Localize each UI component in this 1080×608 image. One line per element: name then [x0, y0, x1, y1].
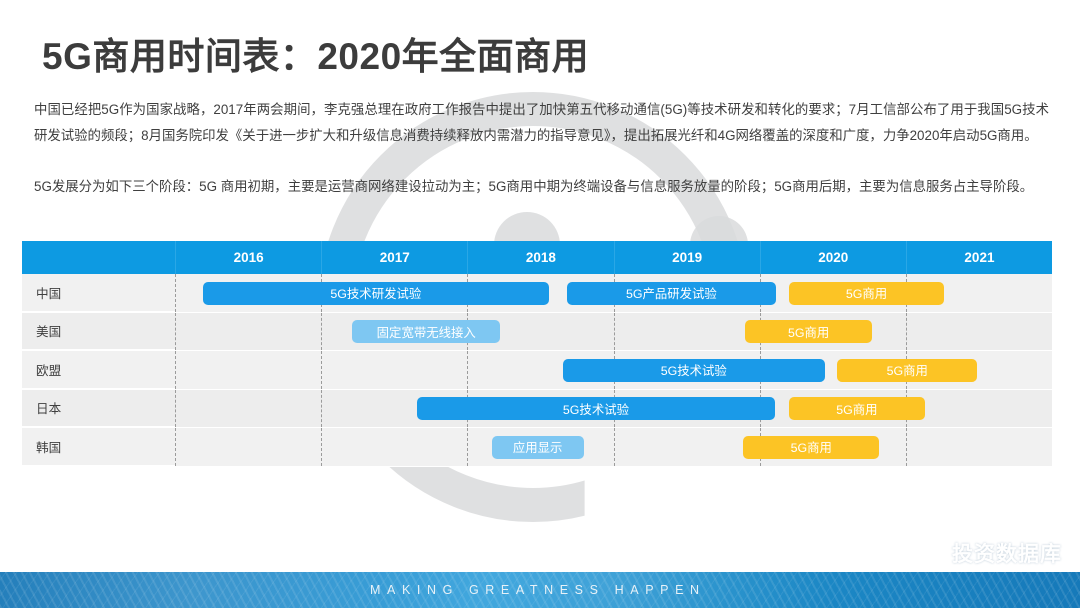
cell-美国-2016 — [175, 313, 321, 351]
table-row: 韩国应用显示5G商用 — [22, 428, 1052, 467]
timeline-bar[interactable]: 5G商用 — [837, 359, 977, 382]
row-label-韩国: 韩国 — [22, 428, 175, 466]
cell-美国-2021 — [906, 313, 1052, 351]
wechat-account-name: 投资数据库 — [952, 538, 1062, 568]
timeline-bar[interactable]: 5G技术试验 — [417, 397, 775, 420]
timeline-bar[interactable]: 5G商用 — [789, 282, 944, 305]
year-header-2021: 2021 — [906, 241, 1052, 274]
cell-美国-2019 — [614, 313, 760, 351]
year-header-2016: 2016 — [175, 241, 321, 274]
timeline-bar[interactable]: 5G商用 — [743, 436, 879, 459]
row-label-中国: 中国 — [22, 274, 175, 312]
timeline-bar[interactable]: 5G商用 — [789, 397, 925, 420]
year-header-2020: 2020 — [760, 241, 906, 274]
timeline-bar[interactable]: 5G技术试验 — [563, 359, 825, 382]
year-header-2018: 2018 — [467, 241, 613, 274]
cell-韩国-2016 — [175, 428, 321, 466]
header-corner-cell — [22, 241, 175, 274]
cell-欧盟-2016 — [175, 351, 321, 389]
table-row: 日本5G技术试验5G商用 — [22, 390, 1052, 429]
row-label-美国: 美国 — [22, 313, 175, 351]
cell-日本-2016 — [175, 390, 321, 428]
slide-canvas: 5G商用时间表：2020年全面商用 中国已经把5G作为国家战略，2017年两会期… — [0, 0, 1080, 608]
cell-韩国-2021 — [906, 428, 1052, 466]
year-header-2017: 2017 — [321, 241, 467, 274]
row-label-日本: 日本 — [22, 390, 175, 428]
timeline-bar[interactable]: 5G技术研发试验 — [203, 282, 549, 305]
table-row: 欧盟5G技术试验5G商用 — [22, 351, 1052, 390]
year-header-2019: 2019 — [614, 241, 760, 274]
table-row: 美国固定宽带无线接入5G商用 — [22, 313, 1052, 352]
row-label-欧盟: 欧盟 — [22, 351, 175, 389]
cell-日本-2021 — [906, 390, 1052, 428]
wechat-watermark: 投资数据库 — [911, 538, 1062, 568]
table-row: 中国5G技术研发试验5G产品研发试验5G商用 — [22, 274, 1052, 313]
footer-tagline: MAKING GREATNESS HAPPEN — [370, 583, 706, 597]
table-header-row: 2016 2017 2018 2019 2020 2021 — [22, 241, 1052, 274]
timeline-bar[interactable]: 5G商用 — [745, 320, 872, 343]
cell-欧盟-2017 — [321, 351, 467, 389]
cell-韩国-2017 — [321, 428, 467, 466]
timeline-bar[interactable]: 固定宽带无线接入 — [352, 320, 500, 343]
timeline-bar[interactable]: 应用显示 — [492, 436, 584, 459]
wechat-icon — [911, 540, 945, 566]
intro-paragraph-2: 5G发展分为如下三个阶段：5G 商用初期，主要是运营商网络建设拉动为主；5G商用… — [34, 174, 1049, 200]
page-title: 5G商用时间表：2020年全面商用 — [42, 26, 589, 80]
cell-韩国-2019 — [614, 428, 760, 466]
timeline-bar[interactable]: 5G产品研发试验 — [567, 282, 776, 305]
footer-banner: MAKING GREATNESS HAPPEN — [0, 572, 1080, 608]
intro-paragraph-1: 中国已经把5G作为国家战略，2017年两会期间，李克强总理在政府工作报告中提出了… — [34, 97, 1049, 148]
timeline-table: 2016 2017 2018 2019 2020 2021 中国5G技术研发试验… — [22, 241, 1052, 467]
